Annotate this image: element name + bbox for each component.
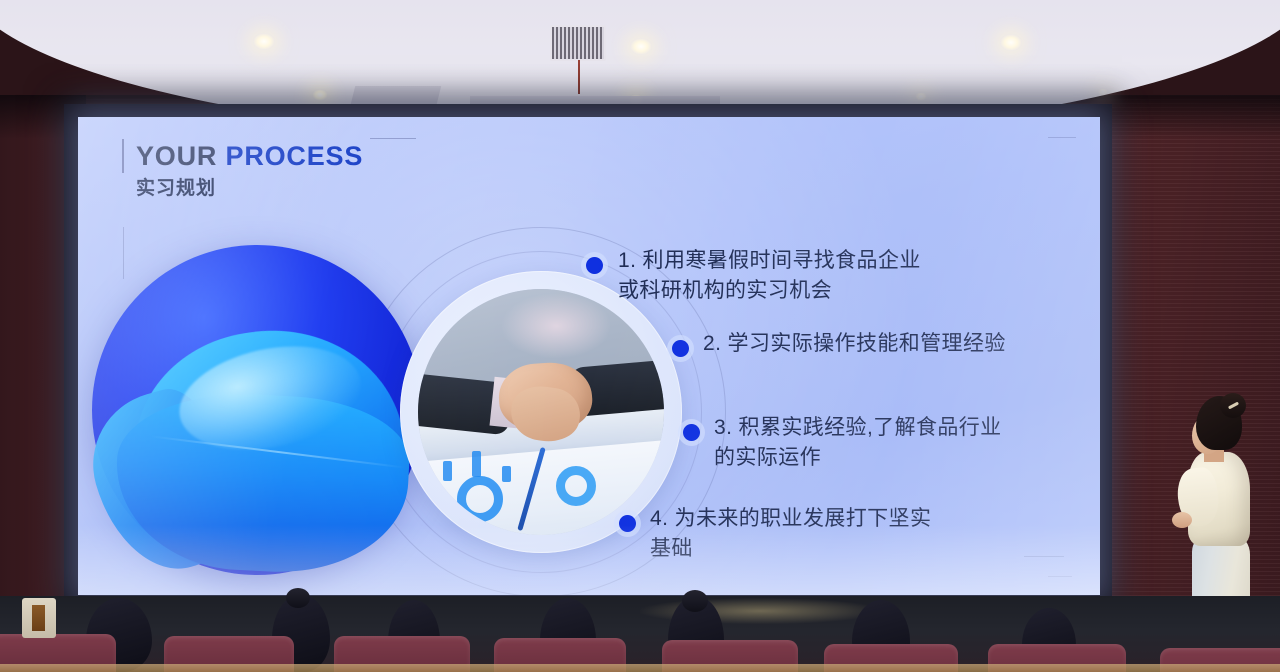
floor-strip xyxy=(0,664,1280,672)
audience-hair-bun xyxy=(286,588,310,608)
bullet-text-3: 3. 积累实践经验,了解食品行业 的实际运作 xyxy=(714,413,1002,473)
ceiling-downlight xyxy=(1000,34,1022,51)
right-rule xyxy=(1048,137,1076,138)
bottom-right-rule-2 xyxy=(1048,576,1072,577)
bullet-dot-3[interactable] xyxy=(683,424,700,441)
photo-chart-donut xyxy=(457,476,503,522)
bottom-right-rule xyxy=(1024,556,1064,557)
bullet-dot-4[interactable] xyxy=(619,515,636,532)
title-rule xyxy=(370,138,416,139)
slide-content: YOUR PROCESS 实习规划 xyxy=(78,117,1100,595)
ceiling-downlight xyxy=(1098,88,1108,96)
photo-chart-donut xyxy=(556,466,596,506)
ceiling-downlight xyxy=(630,38,652,55)
ceiling-downlight xyxy=(312,89,328,101)
wall-outlet[interactable] xyxy=(22,598,56,638)
bullet-dot-1[interactable] xyxy=(586,257,603,274)
presenter-hands xyxy=(1172,512,1192,528)
ceiling-air-vent xyxy=(550,25,606,61)
photo-chart-bar xyxy=(443,461,452,481)
title-process: PROCESS xyxy=(226,141,364,171)
bullet-text-2: 2. 学习实际操作技能和管理经验 xyxy=(703,329,1006,359)
lecture-hall-scene: YOUR PROCESS 实习规划 xyxy=(0,0,1280,672)
title-your: YOUR xyxy=(136,141,226,171)
bullet-text-4: 4. 为未来的职业发展打下坚实 基础 xyxy=(650,504,931,564)
photo-background-glow xyxy=(502,294,610,358)
audience-hair-bun xyxy=(682,590,708,612)
abstract-blue-sphere xyxy=(92,245,422,575)
ceiling-downlight xyxy=(915,92,927,101)
ceiling-downlight xyxy=(253,33,275,50)
photo-chart-bar xyxy=(502,466,511,482)
handshake-photo xyxy=(418,289,664,535)
photo-chart-bar xyxy=(472,451,481,477)
outlet-slot xyxy=(32,605,45,631)
projection-screen[interactable]: YOUR PROCESS 实习规划 xyxy=(78,117,1100,595)
page-title: YOUR PROCESS xyxy=(136,141,363,172)
page-subtitle: 实习规划 xyxy=(136,173,216,200)
title-accent-bar xyxy=(122,139,124,173)
vent-cord xyxy=(578,60,580,94)
bullet-text-1: 1. 利用寒暑假时间寻找食品企业 或科研机构的实习机会 xyxy=(618,246,921,306)
bullet-dot-2[interactable] xyxy=(672,340,689,357)
